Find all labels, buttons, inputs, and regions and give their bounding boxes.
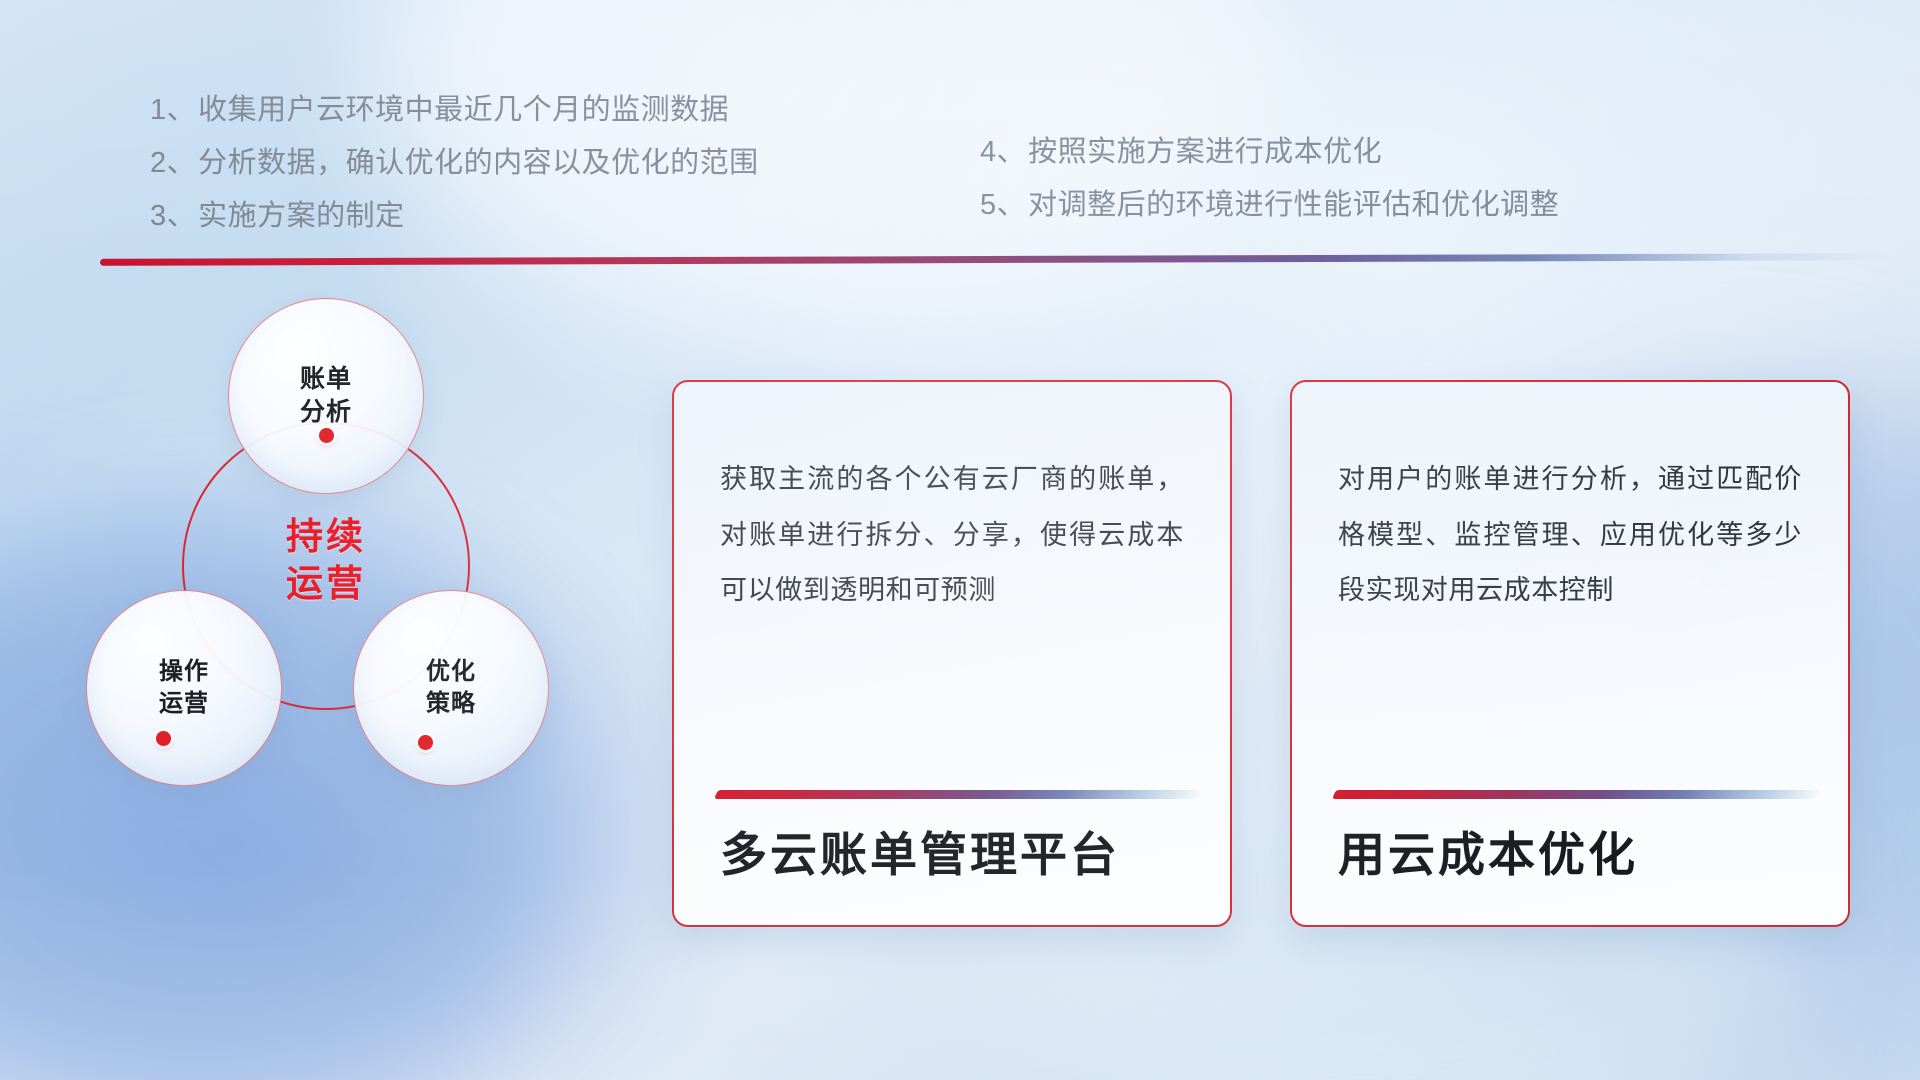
venn-diagram: 持续 运营 账单 分析 操作 运营 优化 策略 [78,288,598,788]
bubble-label-line2: 分析 [300,396,352,429]
step-item-5: 5、 对调整后的环境进行性能评估和优化调整 [980,191,1740,220]
step-number: 3、 [150,202,196,231]
steps-column-right: 4、 按照实施方案进行成本优化 5、 对调整后的环境进行性能评估和优化调整 [840,96,1740,255]
bubble-label-line1: 优化 [426,656,476,688]
card-group: 获取主流的各个公有云厂商的账单，对账单进行拆分、分享，使得云成本可以做到透明和可… [672,380,1850,927]
step-text: 分析数据，确认优化的内容以及优化的范围 [198,149,759,178]
venn-center-label-line1: 持续 [182,513,470,560]
step-text: 对调整后的环境进行性能评估和优化调整 [1028,191,1559,220]
step-text: 收集用户云环境中最近几个月的监测数据 [198,96,729,125]
steps-column-left: 1、 收集用户云环境中最近几个月的监测数据 2、 分析数据，确认优化的内容以及优… [150,96,840,255]
card-body-text: 获取主流的各个公有云厂商的账单，对账单进行拆分、分享，使得云成本可以做到透明和可… [720,452,1184,619]
card-title: 用云成本优化 [1338,829,1802,887]
step-number: 4、 [980,138,1026,167]
venn-bubble-optimization-strategy[interactable]: 优化 策略 [353,590,549,786]
step-number: 1、 [150,96,196,125]
slide-canvas: 1、 收集用户云环境中最近几个月的监测数据 2、 分析数据，确认优化的内容以及优… [0,0,1920,1080]
step-text: 按照实施方案进行成本优化 [1028,138,1382,167]
step-text: 实施方案的制定 [198,202,405,231]
card-multi-cloud-billing-platform[interactable]: 获取主流的各个公有云厂商的账单，对账单进行拆分、分享，使得云成本可以做到透明和可… [672,380,1232,927]
venn-bubble-ops-operation[interactable]: 操作 运营 [86,590,282,786]
bubble-label-line2: 策略 [426,688,476,720]
step-item-4: 4、 按照实施方案进行成本优化 [980,138,1740,167]
card-divider-rule [1332,790,1819,799]
card-body-text: 对用户的账单进行分析，通过匹配价格模型、监控管理、应用优化等多少段实现对用云成本… [1338,452,1802,619]
step-number: 5、 [980,191,1026,220]
section-divider-rule [100,253,1890,266]
venn-bubble-bill-analysis[interactable]: 账单 分析 [228,298,424,494]
card-title: 多云账单管理平台 [720,829,1184,887]
bubble-label-line1: 操作 [159,656,209,688]
steps-list: 1、 收集用户云环境中最近几个月的监测数据 2、 分析数据，确认优化的内容以及优… [150,96,1810,255]
card-divider-rule [714,790,1201,799]
step-item-3: 3、 实施方案的制定 [150,202,840,231]
venn-node-dot-top [319,428,334,443]
bubble-label-line2: 运营 [159,688,209,720]
card-cloud-cost-optimization[interactable]: 对用户的账单进行分析，通过匹配价格模型、监控管理、应用优化等多少段实现对用云成本… [1290,380,1850,927]
step-item-1: 1、 收集用户云环境中最近几个月的监测数据 [150,96,840,125]
venn-node-dot-left [156,731,171,746]
bubble-label-line1: 账单 [300,363,352,396]
step-number: 2、 [150,149,196,178]
venn-node-dot-right [418,735,433,750]
step-item-2: 2、 分析数据，确认优化的内容以及优化的范围 [150,149,840,178]
